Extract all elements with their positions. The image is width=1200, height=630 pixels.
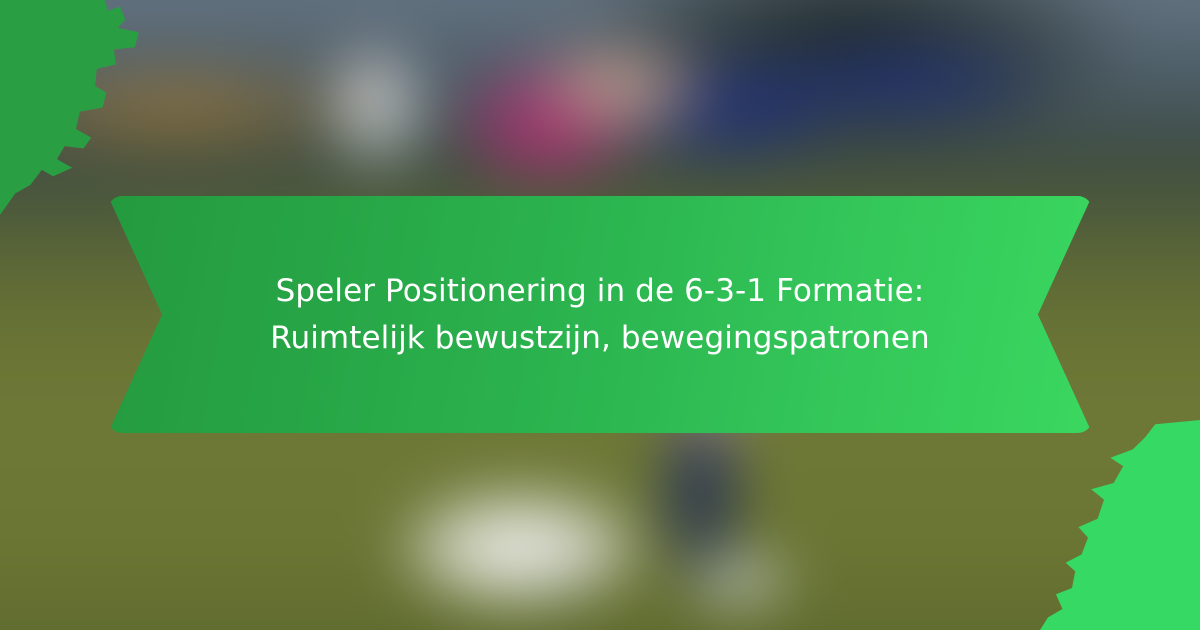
title-ribbon-banner: Speler Positionering in de 6-3-1 Formati… xyxy=(108,196,1092,433)
page-title: Speler Positionering in de 6-3-1 Formati… xyxy=(270,268,930,361)
social-share-card: Speler Positionering in de 6-3-1 Formati… xyxy=(0,0,1200,630)
